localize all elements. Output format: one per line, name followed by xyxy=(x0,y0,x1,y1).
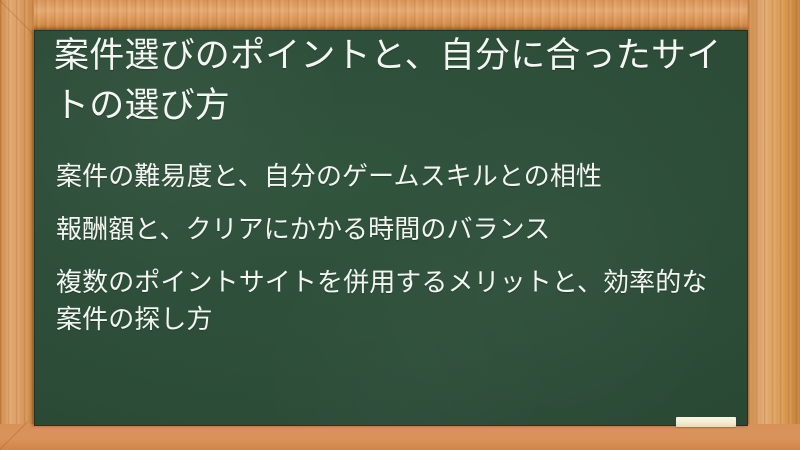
frame-left-grain xyxy=(0,0,34,450)
board-content: 案件選びのポイントと、自分に合ったサイトの選び方 案件の難易度と、自分のゲームス… xyxy=(34,30,748,426)
frame-right-grain xyxy=(748,0,800,450)
bullet-list: 案件の難易度と、自分のゲームスキルとの相性 報酬額と、クリアにかかる時間のバラン… xyxy=(56,158,726,338)
chalkboard-surface: 案件選びのポイントと、自分に合ったサイトの選び方 案件の難易度と、自分のゲームス… xyxy=(34,30,748,426)
frame-rail-right xyxy=(748,0,800,450)
bullet-item-2: 報酬額と、クリアにかかる時間のバランス xyxy=(56,211,726,248)
frame-rail-bottom xyxy=(0,424,800,450)
slide-title: 案件選びのポイントと、自分に合ったサイトの選び方 xyxy=(54,31,734,131)
bullet-item-3: 複数のポイントサイトを併用するメリットと、効率的な案件の探し方 xyxy=(56,264,726,338)
chalkboard-slide: 案件選びのポイントと、自分に合ったサイトの選び方 案件の難易度と、自分のゲームス… xyxy=(0,0,800,450)
chalk-stick-icon xyxy=(676,417,736,427)
frame-top-grain xyxy=(0,0,800,30)
frame-rail-top xyxy=(0,0,800,30)
bullet-item-1: 案件の難易度と、自分のゲームスキルとの相性 xyxy=(56,158,726,195)
frame-rail-left xyxy=(0,0,34,450)
